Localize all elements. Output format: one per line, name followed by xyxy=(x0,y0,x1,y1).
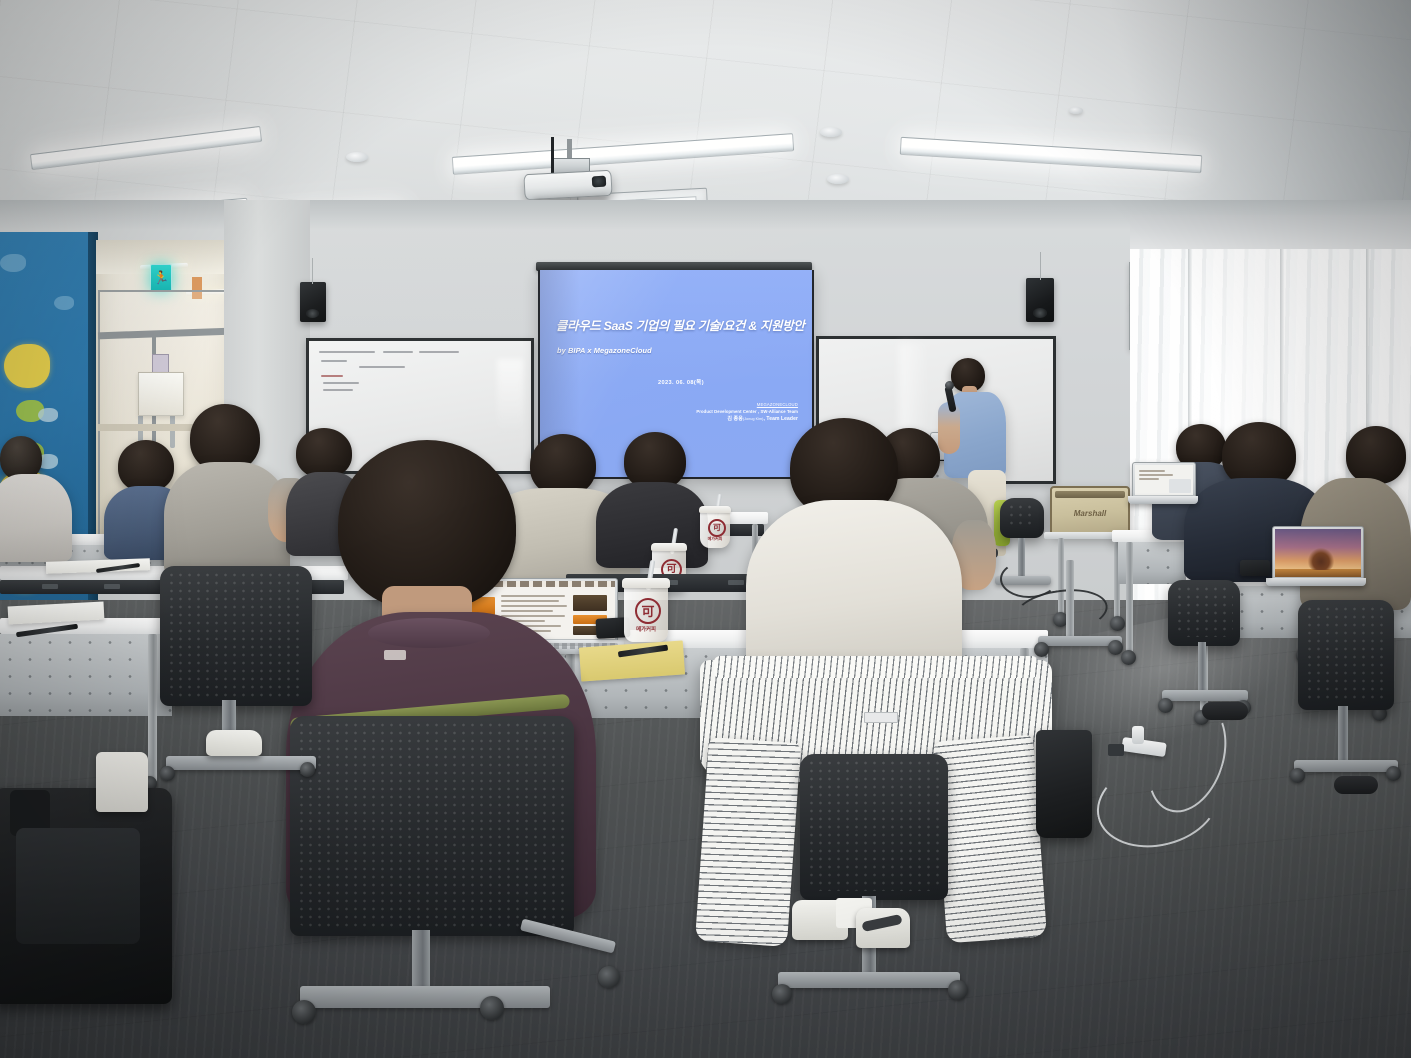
credit-person-kr: 김 종웅 xyxy=(727,416,743,422)
chair-caster xyxy=(948,980,968,1000)
attendee-head xyxy=(1346,426,1406,484)
office-chair-back[interactable] xyxy=(160,566,312,706)
office-chair-back[interactable] xyxy=(800,754,948,900)
speaker-wire xyxy=(1040,252,1041,280)
smoke-detector xyxy=(827,174,849,184)
desk-caster xyxy=(1121,650,1136,665)
cup-lid xyxy=(651,543,687,551)
attendee-head xyxy=(296,428,352,478)
attendee-shoe xyxy=(206,730,262,756)
slide-credit-block: MEGAZONECLOUD Product Development Center… xyxy=(696,402,798,422)
desk-leg xyxy=(1126,542,1133,654)
emergency-exit-sign: 🏃 xyxy=(150,264,172,292)
cup-brand-text: 메가커피 xyxy=(624,625,668,633)
backpack-front-pocket xyxy=(16,828,140,944)
whiteboard-writing xyxy=(359,366,405,368)
speaker-wire xyxy=(312,258,313,284)
smoke-detector xyxy=(1069,107,1083,114)
slide-title: 클라우드 SaaS 기업의 필요 기술/요건 & 지원방안 xyxy=(556,320,802,334)
foreground-attendee-head xyxy=(338,440,516,610)
whiteboard-writing xyxy=(323,389,353,391)
foreground-chair-back[interactable] xyxy=(290,716,574,936)
cup-lid xyxy=(699,506,731,513)
yellow-notepad xyxy=(579,640,685,681)
whiteboard-writing xyxy=(321,360,347,362)
seminar-room-photo: 🏃 클라우드 SaaS 기업의 필요 기술/요건 & 지원방안 by BIPA … xyxy=(0,0,1411,1058)
chair-post xyxy=(1198,642,1206,696)
attendee-laptop-base[interactable] xyxy=(1128,496,1198,504)
chair-caster xyxy=(480,996,504,1020)
chair-mesh xyxy=(1007,503,1037,529)
credit-person-role: , Team Leader xyxy=(763,416,798,422)
shirt-tag xyxy=(384,650,406,660)
smartphone[interactable] xyxy=(1240,560,1270,576)
slide-date: 2023. 06. 08(목) xyxy=(658,378,704,386)
white-plastic-bag xyxy=(96,752,148,812)
whiteboard-writing xyxy=(383,351,413,353)
chair-mesh xyxy=(167,571,305,697)
tray-slot xyxy=(42,584,58,589)
mural-fish xyxy=(54,296,74,310)
office-chair-back[interactable] xyxy=(1168,580,1240,646)
microphone-head xyxy=(945,381,954,390)
cup-logo: 可 xyxy=(708,519,726,537)
mural-fish xyxy=(4,344,50,388)
chair-caster xyxy=(1158,698,1173,713)
panel-perforation xyxy=(0,634,172,716)
whiteboard-writing xyxy=(321,375,343,377)
web-text-line xyxy=(501,605,567,607)
desk-leg xyxy=(148,634,157,782)
shirt-sleeve xyxy=(933,735,1047,943)
attendee-shoe xyxy=(1334,776,1378,794)
web-text-line xyxy=(501,610,553,612)
tray-slot xyxy=(104,584,120,589)
laptop-bag xyxy=(1036,730,1092,838)
attendee-head xyxy=(530,434,596,496)
cup-brand-text: 메가커피 xyxy=(700,536,730,542)
wallpaper-tree xyxy=(1308,548,1334,570)
chair-caster xyxy=(1034,642,1049,657)
chair-mesh xyxy=(1305,605,1387,701)
chair-caster xyxy=(292,1000,316,1024)
chair-base xyxy=(1294,760,1398,772)
mural-fish xyxy=(0,254,26,272)
chair-caster xyxy=(300,762,315,777)
whiteboard-writing xyxy=(319,351,375,353)
attendee-laptop[interactable] xyxy=(1132,462,1196,498)
shirt-collar xyxy=(368,618,490,648)
wall-speaker xyxy=(300,282,326,322)
chair-mesh xyxy=(297,721,567,927)
screen-content-line xyxy=(1139,478,1159,480)
chair-base xyxy=(1162,690,1248,701)
whiteboard-glare xyxy=(497,359,523,433)
drink-cup: 可 메가커피 xyxy=(624,584,668,642)
laptop-display xyxy=(1275,529,1361,577)
slide-credit-person: 김 종웅(Jonug Kim), Team Leader xyxy=(696,415,798,422)
cup-lid xyxy=(622,578,670,588)
web-banner-ad xyxy=(573,595,607,611)
stand-caster xyxy=(1110,616,1125,631)
information-standee xyxy=(138,372,184,416)
attendee-torso xyxy=(0,474,72,562)
web-text-line xyxy=(501,615,565,617)
chair-post xyxy=(1338,706,1348,768)
web-text-line xyxy=(501,595,565,597)
screen-content-block xyxy=(1169,479,1191,493)
screen-content-line xyxy=(1139,470,1165,472)
office-chair-back[interactable] xyxy=(1298,600,1394,710)
chair-caster xyxy=(772,984,792,1004)
chair-caster xyxy=(1108,640,1123,655)
chair-mesh xyxy=(807,759,941,891)
chair-mesh xyxy=(1175,585,1233,637)
chair-caster xyxy=(160,766,175,781)
marshall-amplifier: Marshall xyxy=(1050,486,1130,536)
chair-base xyxy=(300,986,550,1008)
credit-person-en: (Jonug Kim) xyxy=(743,417,763,421)
smoke-detector xyxy=(820,127,842,137)
mural-fish xyxy=(38,408,58,422)
shirt-collar xyxy=(714,656,1038,678)
wall-speaker xyxy=(1026,278,1054,322)
window-header-band xyxy=(1130,215,1411,249)
amp-control-panel xyxy=(1055,491,1125,498)
chair-base xyxy=(166,756,316,770)
slide-credit-company: MEGAZONECLOUD xyxy=(696,402,798,407)
tray-slot xyxy=(728,580,744,585)
amp-brand-label: Marshall xyxy=(1052,509,1128,518)
screen-content-line xyxy=(1139,474,1173,476)
desk-modesty-panel xyxy=(0,634,172,716)
chair-caster xyxy=(1290,768,1305,783)
presenter-chair-back[interactable] xyxy=(1000,498,1044,538)
chair-caster xyxy=(598,966,620,988)
slide-credit-team: Product Development Center , SW-Alliance… xyxy=(696,409,798,414)
desk-leg xyxy=(1066,560,1074,640)
power-adapter xyxy=(1108,744,1124,756)
wallpaper-ground xyxy=(1275,569,1361,577)
attendee-head xyxy=(118,440,174,492)
drink-cup: 可 메가커피 xyxy=(700,510,730,548)
chair-caster xyxy=(1386,766,1401,781)
web-text-line xyxy=(501,600,559,602)
shirt-sleeve xyxy=(695,737,801,947)
laptop-display xyxy=(1135,465,1193,495)
chair-base xyxy=(778,972,960,988)
whiteboard-writing xyxy=(419,351,459,353)
projector-cable xyxy=(551,137,554,177)
attendee-laptop[interactable] xyxy=(1272,526,1364,580)
projector-lens xyxy=(592,176,607,188)
shirt-label-tag xyxy=(864,712,898,723)
smoke-detector xyxy=(346,152,368,162)
av-cable xyxy=(1000,560,1058,598)
attendee-laptop-base[interactable] xyxy=(1266,578,1366,586)
whiteboard-writing xyxy=(323,382,359,384)
cup-logo: 可 xyxy=(635,598,661,624)
power-plug xyxy=(1132,726,1144,744)
exit-sign-glyph: 🏃 xyxy=(153,270,169,286)
